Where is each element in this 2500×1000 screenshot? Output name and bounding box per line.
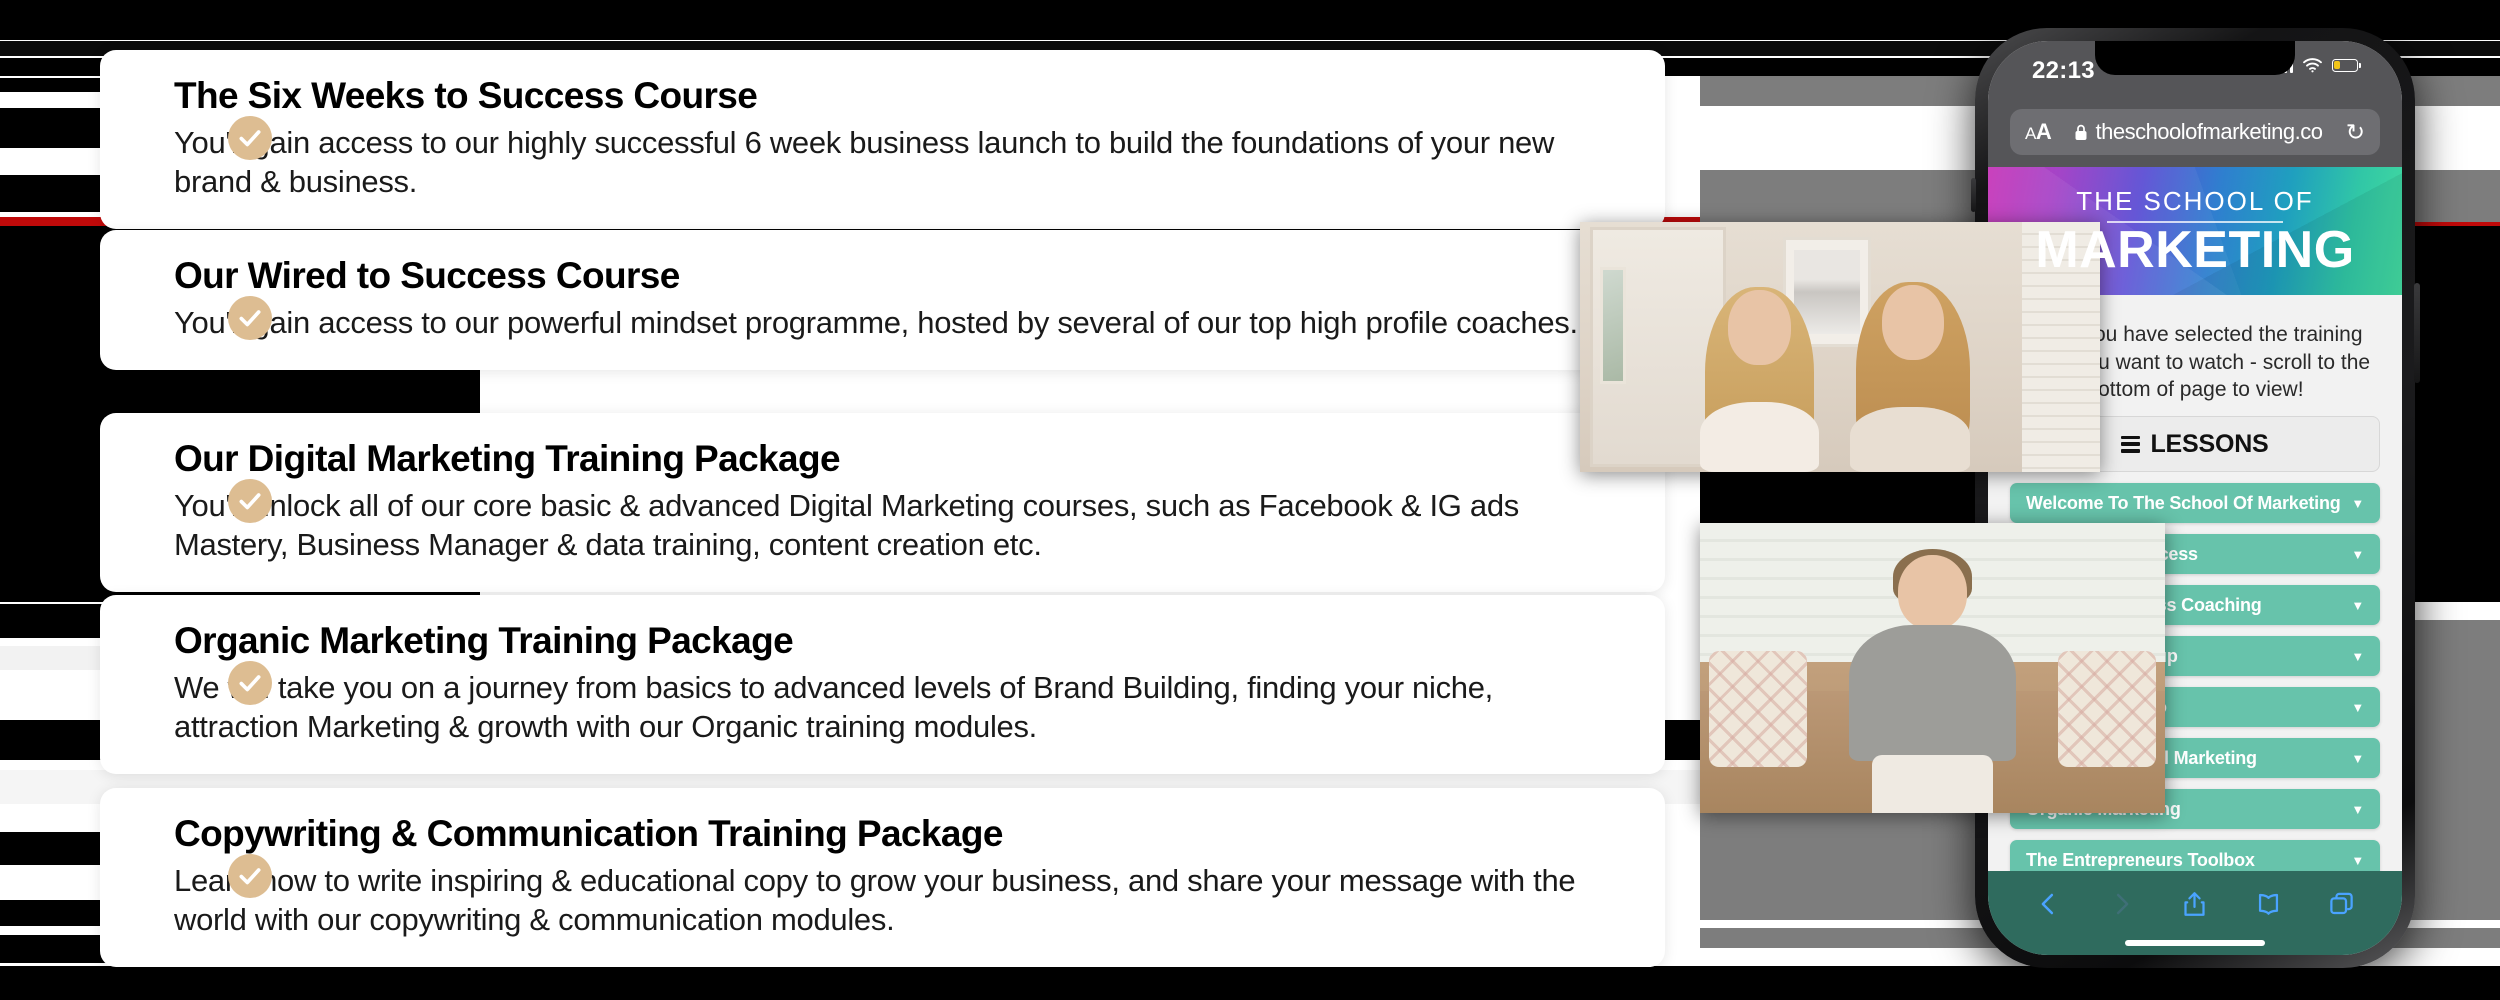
iphone-mockup: 22:13 AA the — [1975, 28, 2415, 968]
home-indicator — [2125, 940, 2265, 946]
tabs-icon[interactable] — [2328, 889, 2355, 919]
accordion-label: Welcome To The School Of Marketing — [2026, 493, 2341, 514]
feature-card-title: Our Wired to Success Course — [174, 256, 1631, 297]
feature-card[interactable]: Organic Marketing Training Package We wi… — [100, 595, 1665, 774]
url-pill[interactable]: AA theschoolofmarketing.co ↻ — [2010, 109, 2380, 155]
site-banner: THE SCHOOL OF MARKETING — [1988, 167, 2402, 295]
video-2-pillow-right — [2058, 651, 2156, 767]
feature-card-title: Copywriting & Communication Training Pac… — [174, 814, 1631, 855]
feature-card[interactable]: The Six Weeks to Success Course You'll g… — [100, 50, 1665, 229]
video-1-person-b-head — [1882, 285, 1944, 360]
chevron-down-icon: ▼ — [2351, 598, 2364, 613]
accordion-label: The Entrepreneurs Toolbox — [2026, 850, 2255, 871]
video-1-scene — [1580, 222, 2100, 472]
chevron-down-icon: ▼ — [2351, 751, 2364, 766]
browser-url-bar[interactable]: AA theschoolofmarketing.co ↻ — [1988, 107, 2402, 167]
video-2-person-shorts — [1872, 755, 1993, 813]
chevron-right-icon[interactable] — [2108, 889, 2135, 919]
feature-card-title: The Six Weeks to Success Course — [174, 76, 1631, 117]
status-clock: 22:13 — [2032, 57, 2095, 85]
banner-line-2: MARKETING — [2035, 224, 2354, 276]
video-1-person-b-top — [1850, 407, 1970, 472]
feature-card-title: Organic Marketing Training Package — [174, 621, 1631, 662]
battery-low-icon — [2332, 59, 2358, 72]
chevron-down-icon: ▼ — [2351, 802, 2364, 817]
check-circle-icon — [228, 854, 272, 898]
check-circle-icon — [228, 296, 272, 340]
url-text: theschoolofmarketing.co — [2095, 119, 2322, 145]
text-size-button[interactable]: AA — [2025, 119, 2051, 145]
share-icon[interactable] — [2181, 889, 2208, 919]
chevron-down-icon: ▼ — [2351, 496, 2364, 511]
video-1-person-a-head — [1728, 290, 1790, 365]
banner-line-1: THE SCHOOL OF — [2076, 186, 2313, 217]
phone-notch — [2095, 41, 2295, 75]
phone-screen: 22:13 AA the — [1988, 41, 2402, 955]
video-2-pillow-left — [1709, 651, 1807, 767]
book-icon[interactable] — [2255, 889, 2282, 919]
feature-card-body: We will take you on a journey from basic… — [174, 668, 1604, 746]
wifi-icon — [2302, 57, 2323, 73]
video-thumbnail-man-on-couch[interactable] — [1700, 523, 2165, 813]
video-2-scene — [1700, 523, 2165, 813]
feature-card[interactable]: Our Digital Marketing Training Package Y… — [100, 413, 1665, 592]
hamburger-icon — [2121, 436, 2140, 453]
chevron-down-icon: ▼ — [2351, 649, 2364, 664]
lock-icon — [2074, 124, 2088, 141]
feature-card-body: Learn how to write inspiring & education… — [174, 861, 1604, 939]
bg-band-bottom — [0, 966, 2500, 1000]
browser-toolbar — [1988, 871, 2402, 955]
check-circle-icon — [228, 116, 272, 160]
feature-card-body: You'll gain access to our powerful minds… — [174, 303, 1604, 342]
video-1-person-a-top — [1700, 402, 1820, 472]
chevron-left-icon[interactable] — [2035, 889, 2062, 919]
status-bar: 22:13 — [1988, 41, 2402, 107]
page-stage: The Six Weeks to Success Course You'll g… — [0, 0, 2500, 1000]
feature-card[interactable]: Copywriting & Communication Training Pac… — [100, 788, 1665, 967]
reload-icon[interactable]: ↻ — [2346, 119, 2365, 146]
url-display[interactable]: theschoolofmarketing.co — [2074, 119, 2322, 145]
lessons-button-label: LESSONS — [2150, 430, 2268, 459]
feature-card-title: Our Digital Marketing Training Package — [174, 439, 1631, 480]
video-1-cabinet-glass — [1600, 267, 1626, 384]
check-circle-icon — [228, 661, 272, 705]
feature-card-body: You'll unlock all of our core basic & ad… — [174, 486, 1604, 564]
chevron-down-icon: ▼ — [2351, 547, 2364, 562]
phone-mute-switch — [1971, 178, 1976, 212]
check-circle-icon — [228, 479, 272, 523]
chevron-down-icon: ▼ — [2351, 853, 2364, 868]
video-thumbnail-two-women[interactable] — [1580, 222, 2100, 472]
feature-card-body: You'll gain access to our highly success… — [174, 123, 1604, 201]
accordion-item-welcome[interactable]: Welcome To The School Of Marketing ▼ — [2010, 483, 2380, 523]
video-2-person-shirt — [1849, 625, 2016, 761]
chevron-down-icon: ▼ — [2351, 700, 2364, 715]
phone-power-button — [2414, 283, 2420, 383]
feature-card[interactable]: Our Wired to Success Course You'll gain … — [100, 230, 1665, 370]
video-2-person-head — [1898, 555, 1968, 630]
